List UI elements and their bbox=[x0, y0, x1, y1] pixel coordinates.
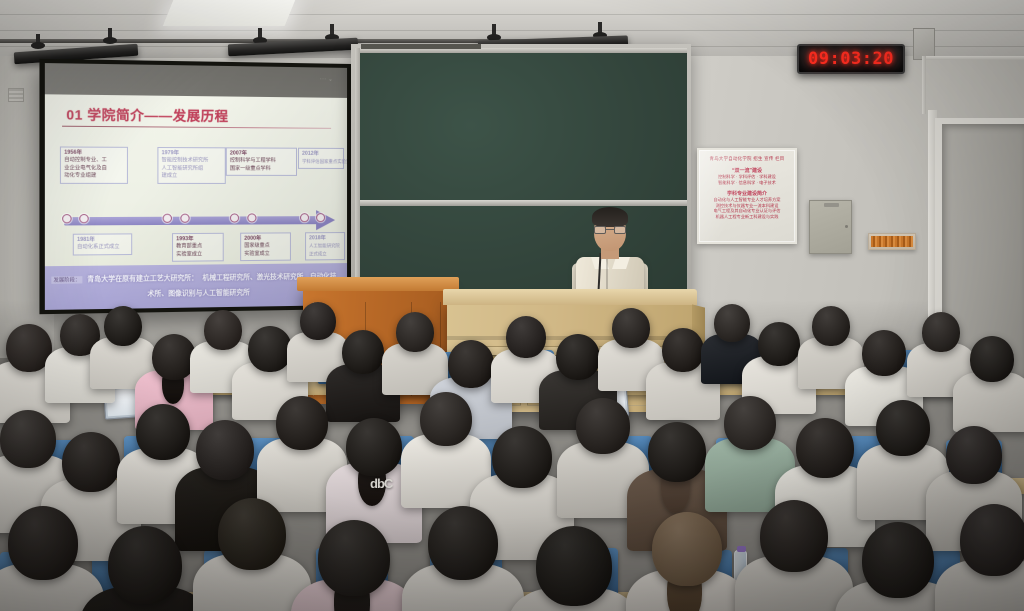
timeline-entry-above: 2007年 控制科学与工程学科 国家一级重点学科 bbox=[226, 147, 297, 176]
light-bar-stem bbox=[598, 22, 602, 36]
student-head bbox=[724, 396, 776, 450]
timeline-entry-above: 2012年 学科评估国家重点实验室 bbox=[298, 148, 344, 169]
banner-tag: 发展阶段： bbox=[51, 276, 82, 284]
student-head bbox=[396, 312, 434, 352]
timeline-desc: 动化专业组建 bbox=[64, 172, 124, 180]
light-bar-stem bbox=[36, 34, 40, 46]
student-head bbox=[612, 308, 650, 348]
chalkboard-rail-middle bbox=[355, 200, 687, 206]
student-head bbox=[346, 418, 402, 476]
student-head bbox=[714, 304, 750, 342]
student-head bbox=[248, 326, 292, 372]
timeline-entry-below: 2000年 国家级重点 实验室成立 bbox=[240, 232, 291, 261]
timeline-entry-below: 1981年 自动化系正式成立 bbox=[73, 233, 132, 255]
student-head bbox=[448, 340, 494, 388]
timeline-desc: 人工智能研究所组 bbox=[162, 165, 222, 173]
student-head bbox=[812, 306, 850, 346]
poster-header: 青岛大学自动化学院 招生 宣传 栏目 bbox=[704, 156, 790, 162]
student-head bbox=[576, 398, 630, 454]
student-head bbox=[758, 322, 800, 366]
tshirt-print: dbC bbox=[370, 476, 392, 491]
poster-section2-line: 机器人工程专业新工科建设与实践 bbox=[704, 214, 790, 220]
student-head bbox=[960, 504, 1024, 576]
wall-sign-plaque bbox=[868, 233, 916, 250]
podium-worktop bbox=[297, 277, 459, 291]
student-head bbox=[136, 404, 190, 460]
projection-screen: ··· ⌄ 01 学院简介——发展历程 bbox=[39, 59, 352, 314]
timeline-desc: 正式成立 bbox=[309, 250, 341, 258]
student-head bbox=[506, 316, 546, 358]
lecture-hall-photo: 09:03:20 ··· ⌄ 01 学院简介——发展历程 bbox=[0, 0, 1024, 611]
timeline-node bbox=[180, 214, 189, 223]
light-bar-stem bbox=[108, 28, 112, 41]
presenter-hair bbox=[592, 207, 628, 227]
clock-time-display: 09:03:20 bbox=[808, 49, 894, 69]
timeline-node bbox=[62, 214, 72, 223]
wall-conduit-horizontal bbox=[922, 56, 1024, 60]
student-head bbox=[108, 526, 182, 604]
student-head bbox=[652, 512, 722, 586]
student-head bbox=[876, 400, 930, 456]
ceiling-seam bbox=[0, 14, 1024, 15]
student-head bbox=[204, 310, 242, 350]
timeline-desc: 学科评估国家重点实验室 bbox=[302, 158, 340, 166]
timeline-desc: 自动控制专业、工 bbox=[64, 157, 124, 165]
timeline-desc: 自动化系正式成立 bbox=[77, 244, 128, 252]
student-head bbox=[760, 500, 828, 572]
light-bar-stem bbox=[258, 28, 262, 41]
timeline-entry-below: 2018年 人工智能研究院 正式成立 bbox=[305, 232, 345, 260]
timeline-desc: 智能控制技术研究所 bbox=[162, 157, 222, 165]
ceiling-seam bbox=[0, 30, 1024, 31]
student-figure bbox=[960, 504, 1024, 611]
student-head bbox=[104, 306, 142, 346]
student-head bbox=[8, 506, 78, 580]
banner-line-1a: 青岛大学在原有建立工艺大研究所： bbox=[87, 273, 198, 286]
student-head bbox=[648, 422, 706, 482]
student-head bbox=[922, 312, 960, 352]
student-head bbox=[556, 334, 600, 380]
poster-section1-line: 智能科学 · 信息科学 · 电子技术 bbox=[704, 180, 790, 186]
chalkboard-frame-left bbox=[355, 48, 360, 306]
powerpoint-ui-hint: ··· ⌄ bbox=[320, 77, 333, 83]
student-head bbox=[0, 410, 56, 468]
timeline-node bbox=[316, 213, 325, 222]
student-head bbox=[492, 426, 552, 488]
light-bar-stem bbox=[492, 24, 496, 38]
timeline-entry-above: 1956年 自动控制专业、工 业企业电气化及自 动化专业组建 bbox=[60, 146, 128, 183]
student-head bbox=[342, 330, 384, 374]
wall-vent-grille bbox=[8, 88, 24, 102]
student-head bbox=[662, 328, 704, 372]
timeline-desc: 人工智能研究院 bbox=[309, 242, 341, 250]
student-head bbox=[428, 506, 498, 580]
student-head bbox=[218, 498, 286, 570]
student-head bbox=[420, 392, 472, 446]
timeline-desc: 控制科学与工程学科 bbox=[230, 158, 293, 166]
student-head bbox=[318, 520, 390, 596]
student-head bbox=[300, 302, 336, 340]
chalkboard-slide-tab[interactable] bbox=[361, 44, 481, 49]
poster-section2-line: 自动化与人工智能专业人才培养方案 bbox=[704, 197, 790, 203]
timeline-node bbox=[247, 213, 256, 222]
slide-content: 01 学院简介——发展历程 1956年 bbox=[45, 94, 347, 266]
timeline-entry-above: 1979年 智能控制技术研究所 人工智能研究所组 建成立 bbox=[157, 147, 225, 183]
timeline-node bbox=[79, 214, 89, 223]
timeline-node bbox=[230, 213, 239, 222]
student-head bbox=[62, 432, 120, 492]
wall-conduit-vertical bbox=[922, 56, 926, 114]
plaque-face bbox=[871, 236, 913, 247]
timeline-desc: 实验室成立 bbox=[176, 251, 219, 259]
light-bar-stem bbox=[330, 24, 334, 38]
student-head bbox=[536, 526, 612, 606]
slide-title: 01 学院简介——发展历程 bbox=[66, 104, 228, 125]
student-head bbox=[970, 336, 1014, 382]
student-head bbox=[946, 426, 1002, 484]
student-head bbox=[862, 330, 906, 376]
slide-timeline: 1956年 自动控制专业、工 业企业电气化及自 动化专业组建 1979年 智能控… bbox=[45, 140, 347, 262]
timeline-node bbox=[300, 213, 309, 222]
wall-electrical-panel[interactable] bbox=[809, 200, 852, 254]
timeline-desc: 国家一级重点学科 bbox=[230, 165, 293, 173]
ceiling-light-panel bbox=[163, 0, 296, 26]
timeline-node bbox=[163, 214, 172, 223]
timeline-bar bbox=[64, 216, 317, 225]
screen-surface: ··· ⌄ 01 学院简介——发展历程 bbox=[45, 63, 347, 310]
timeline-entry-below: 1993年 教育部重点 实验室成立 bbox=[172, 233, 224, 262]
glasses-icon bbox=[594, 226, 626, 234]
slide-title-rule bbox=[62, 126, 331, 129]
student-head bbox=[196, 420, 254, 480]
timeline-desc: 建成立 bbox=[162, 173, 222, 181]
timeline-desc: 业企业电气化及自 bbox=[64, 165, 124, 173]
framed-red-notice-poster: 青岛大学自动化学院 招生 宣传 栏目 “双一流”建设 控制科学 · 学科评估 ·… bbox=[697, 148, 797, 244]
timeline-desc: 实验室成立 bbox=[244, 250, 287, 258]
student-head bbox=[796, 418, 854, 478]
student-audience: dbC bbox=[0, 300, 1024, 611]
poster-section1-title: “双一流”建设 bbox=[704, 167, 790, 174]
student-head bbox=[862, 522, 934, 598]
student-head bbox=[276, 396, 328, 450]
powerpoint-chrome-band: ··· ⌄ bbox=[45, 63, 347, 98]
wall-led-clock: 09:03:20 bbox=[797, 44, 905, 74]
